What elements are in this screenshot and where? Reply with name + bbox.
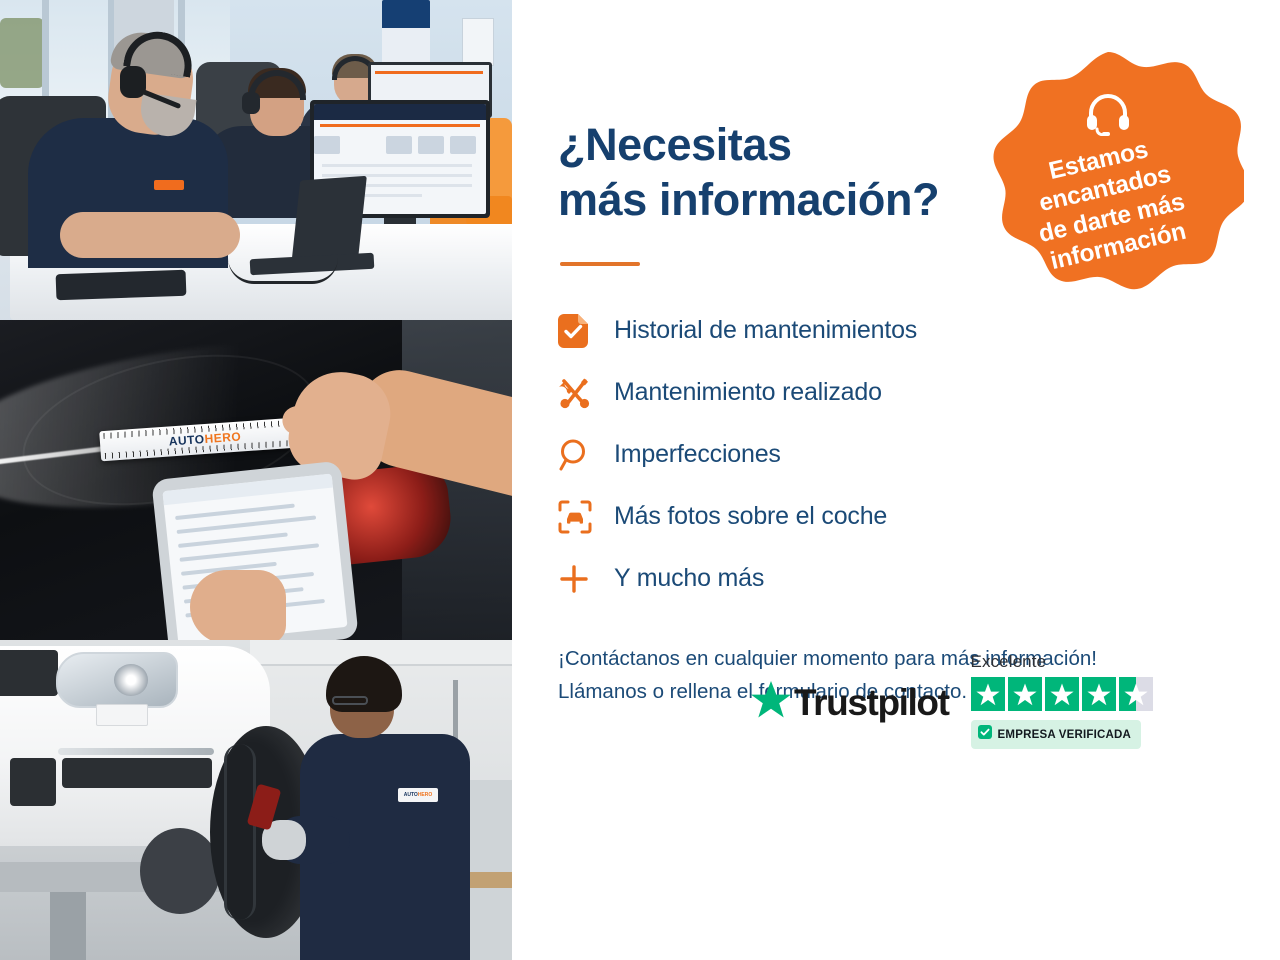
autohero-more-info-banner: AUTOHERO — [0, 0, 1280, 960]
star-rating — [971, 677, 1153, 711]
car-grille — [0, 650, 58, 696]
headset-icon — [1085, 92, 1131, 141]
brand-hero-text: HERO — [204, 429, 242, 446]
car-inspection-ruler-photo: AUTOHERO — [0, 320, 512, 640]
feature-list: Historial de mantenimientos M — [558, 300, 1280, 610]
promo-starburst-badge: Estamos encantados de darte más informac… — [972, 46, 1244, 318]
wall-notice — [462, 18, 494, 66]
rating-label: Excelente — [971, 652, 1153, 672]
title-divider — [560, 262, 640, 266]
verified-badge: EMPRESA VERIFICADA — [971, 720, 1142, 749]
car-lift-leg — [50, 892, 86, 960]
trustpilot-rating: Excelente — [971, 652, 1153, 749]
star-filled — [1082, 677, 1116, 711]
trustpilot-block[interactable]: Trustpilot Excelente — [750, 652, 1153, 749]
trustpilot-logo[interactable]: Trustpilot — [750, 680, 949, 725]
cable — [228, 258, 338, 284]
brand-auto-text: AUTO — [168, 432, 205, 448]
verified-label: EMPRESA VERIFICADA — [998, 729, 1132, 741]
document-check-icon — [558, 314, 614, 348]
feature-label: Mantenimiento realizado — [614, 378, 882, 407]
outdoor-greenery — [0, 18, 44, 88]
feature-item-mas: Y mucho más — [558, 548, 1280, 610]
star-half — [1119, 677, 1153, 711]
call-center-agents-photo — [0, 0, 512, 320]
feature-label: Historial de mantenimientos — [614, 316, 917, 345]
car-photo-frame-icon — [558, 500, 614, 534]
mechanic-polo-badge: AUTOHERO — [398, 788, 438, 802]
lower-grille — [62, 758, 212, 788]
badge-text: Estamos encantados de darte más informac… — [1022, 130, 1193, 278]
feature-item-mantenimiento: Mantenimiento realizado — [558, 362, 1280, 424]
photo-column: AUTOHERO — [0, 0, 512, 960]
trustpilot-star-icon — [750, 680, 792, 725]
wheel-hub — [140, 828, 220, 914]
check-circle-icon — [978, 725, 992, 744]
car-headlight — [56, 652, 178, 708]
chrome-trim — [58, 748, 214, 755]
brand-auto-text: AUTO — [404, 792, 418, 798]
license-plate — [96, 704, 148, 726]
feature-label: Imperfecciones — [614, 440, 781, 469]
tools-wrench-screwdriver-icon — [558, 376, 614, 410]
star-filled — [1045, 677, 1079, 711]
feature-label: Más fotos sobre el coche — [614, 502, 887, 531]
brand-hero-text: HERO — [418, 792, 432, 798]
feature-item-imperfecciones: Imperfecciones — [558, 424, 1280, 486]
trustpilot-name: Trustpilot — [794, 682, 949, 724]
magnifier-icon — [558, 438, 614, 472]
plus-icon — [558, 563, 614, 595]
wall-poster-inner — [382, 28, 430, 64]
laptop-screen — [291, 176, 367, 266]
polo-logo-badge — [154, 180, 184, 190]
feature-label: Y mucho más — [614, 564, 764, 593]
side-vent — [10, 758, 56, 806]
workshop-wheel-change-photo: AUTOHERO — [0, 640, 512, 960]
hand-holding-tablet — [190, 570, 286, 640]
tablet-on-desk — [56, 270, 187, 301]
star-filled — [971, 677, 1005, 711]
star-filled — [1008, 677, 1042, 711]
feature-item-fotos: Más fotos sobre el coche — [558, 486, 1280, 548]
